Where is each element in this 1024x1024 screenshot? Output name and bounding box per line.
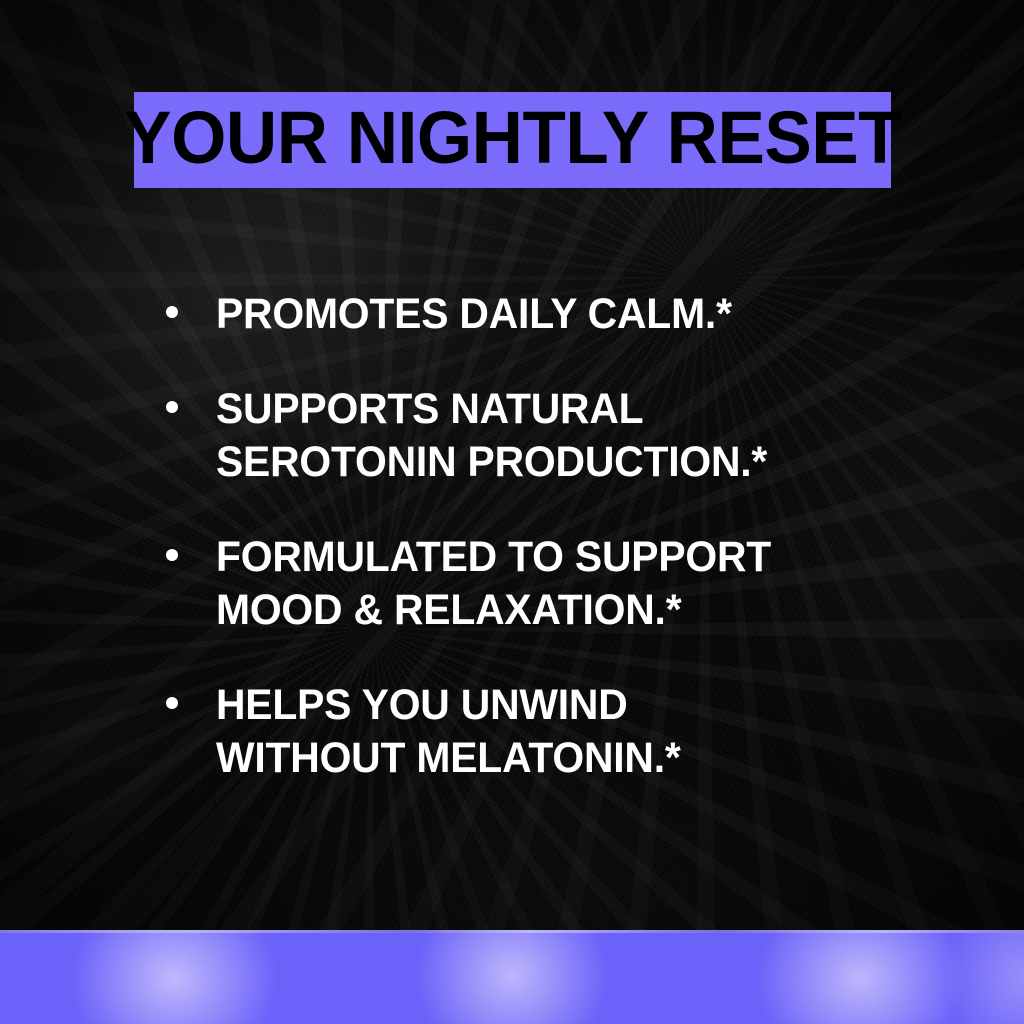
benefits-list: PROMOTES DAILY CALM.* SUPPORTS NATURAL S…: [166, 288, 926, 785]
list-item: HELPS YOU UNWIND WITHOUT MELATONIN.*: [166, 679, 926, 785]
page-title: YOUR NIGHTLY RESET: [124, 101, 901, 179]
bullet-dot-icon: [166, 401, 178, 413]
bottom-purple-band: [0, 930, 1024, 1024]
band-glow-highlights: [0, 930, 1024, 1024]
list-item: PROMOTES DAILY CALM.*: [166, 288, 926, 341]
benefit-text: PROMOTES DAILY CALM.*: [216, 288, 732, 341]
product-benefits-graphic: YOUR NIGHTLY RESET PROMOTES DAILY CALM.*…: [0, 0, 1024, 1024]
bullet-dot-icon: [166, 306, 178, 318]
list-item: SUPPORTS NATURAL SEROTONIN PRODUCTION.*: [166, 383, 926, 489]
bullet-dot-icon: [166, 697, 178, 709]
list-item: FORMULATED TO SUPPORT MOOD & RELAXATION.…: [166, 531, 926, 637]
bullet-dot-icon: [166, 549, 178, 561]
band-top-rim: [0, 930, 1024, 933]
benefit-text: HELPS YOU UNWIND WITHOUT MELATONIN.*: [216, 679, 681, 785]
benefit-text: FORMULATED TO SUPPORT MOOD & RELAXATION.…: [216, 531, 771, 637]
benefit-text: SUPPORTS NATURAL SEROTONIN PRODUCTION.*: [216, 383, 767, 489]
headline-banner: YOUR NIGHTLY RESET: [134, 92, 891, 188]
